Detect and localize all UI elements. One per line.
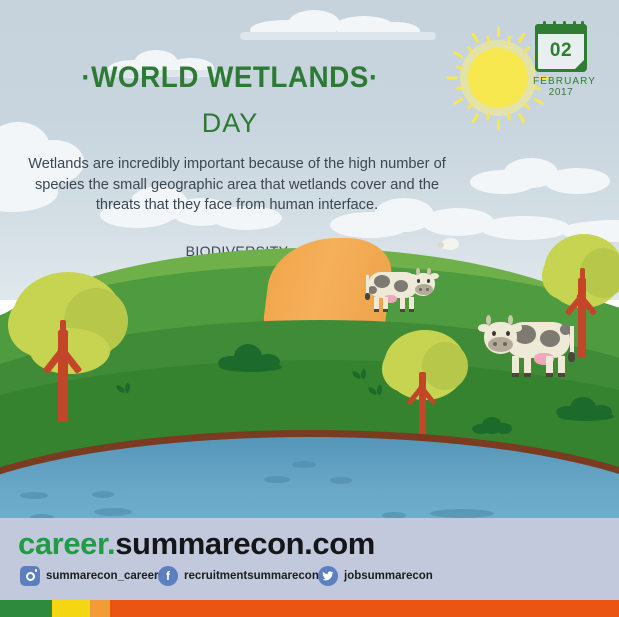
sun-ray (466, 46, 474, 54)
tree-center (382, 330, 468, 446)
footer-banner: career.summarecon.com summarecon_career … (0, 518, 619, 600)
sun-ray (497, 119, 500, 130)
social-facebook[interactable]: f recruitmentsummarecon (158, 566, 319, 586)
instagram-icon (20, 566, 40, 586)
color-strip-segment-1 (0, 600, 52, 617)
sun-ray (486, 35, 491, 44)
lake (0, 430, 619, 520)
url-career-part: career. (18, 526, 115, 561)
color-strip (0, 600, 619, 617)
facebook-icon: f (158, 566, 178, 586)
sun-ray (518, 32, 526, 43)
social-twitter[interactable]: jobsummarecon (318, 566, 433, 586)
tree-left (8, 272, 128, 428)
instagram-handle: summarecon_career (46, 570, 159, 582)
color-strip-segment-3 (90, 600, 110, 617)
poster-canvas: 02 FEBRUARY 2017 ·WORLD WETLANDS· DAY We… (0, 0, 619, 617)
sun-core (468, 48, 528, 108)
sun-ray (453, 97, 464, 105)
calendar-month: FEBRUARY (533, 76, 589, 87)
color-strip-segment-4 (110, 600, 619, 617)
sun-ray (523, 102, 531, 110)
cow-large (478, 310, 582, 382)
calendar-badge: 02 FEBRUARY 2017 (533, 24, 589, 104)
sun-ray (471, 32, 479, 43)
sun-ray (486, 112, 491, 121)
page-subtitle: DAY (0, 108, 460, 139)
calendar-page-fold (574, 59, 585, 70)
page-title: ·WORLD WETLANDS· (16, 61, 444, 95)
facebook-handle: recruitmentsummarecon (184, 570, 319, 582)
social-instagram[interactable]: summarecon_career (20, 566, 159, 586)
url-domain-part: summarecon.com (115, 526, 375, 561)
color-strip-segment-2 (52, 600, 90, 617)
cow-small (368, 264, 442, 314)
sun-ray (518, 113, 526, 124)
sun-ray (497, 26, 500, 37)
body-paragraph: Wetlands are incredibly important becaus… (22, 154, 452, 216)
sun-ray (447, 77, 458, 80)
twitter-icon (318, 566, 338, 586)
sun-ray (471, 113, 479, 124)
calendar-year: 2017 (533, 87, 589, 98)
sun-ray (456, 65, 465, 70)
sun-ray (453, 51, 464, 59)
twitter-handle: jobsummarecon (344, 570, 433, 582)
calendar-body: 02 (535, 24, 587, 72)
career-website-url[interactable]: career.summarecon.com (18, 526, 375, 562)
